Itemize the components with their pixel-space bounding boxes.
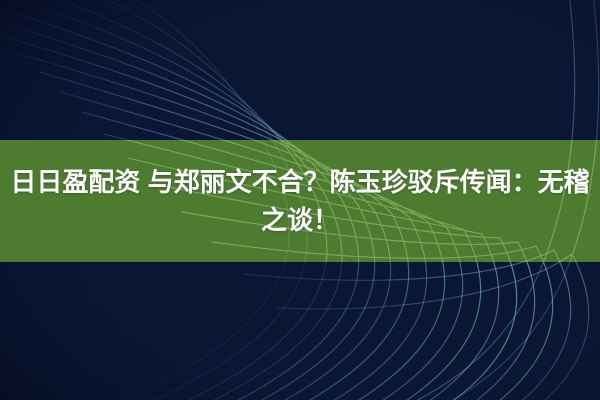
headline-container: 日日盈配资 与郑丽文不合？陈玉珍驳斥传闻：无稽之谈！	[0, 140, 600, 262]
headline-text: 日日盈配资 与郑丽文不合？陈玉珍驳斥传闻：无稽之谈！	[4, 163, 596, 239]
news-banner: 日日盈配资 与郑丽文不合？陈玉珍驳斥传闻：无稽之谈！	[0, 0, 600, 400]
